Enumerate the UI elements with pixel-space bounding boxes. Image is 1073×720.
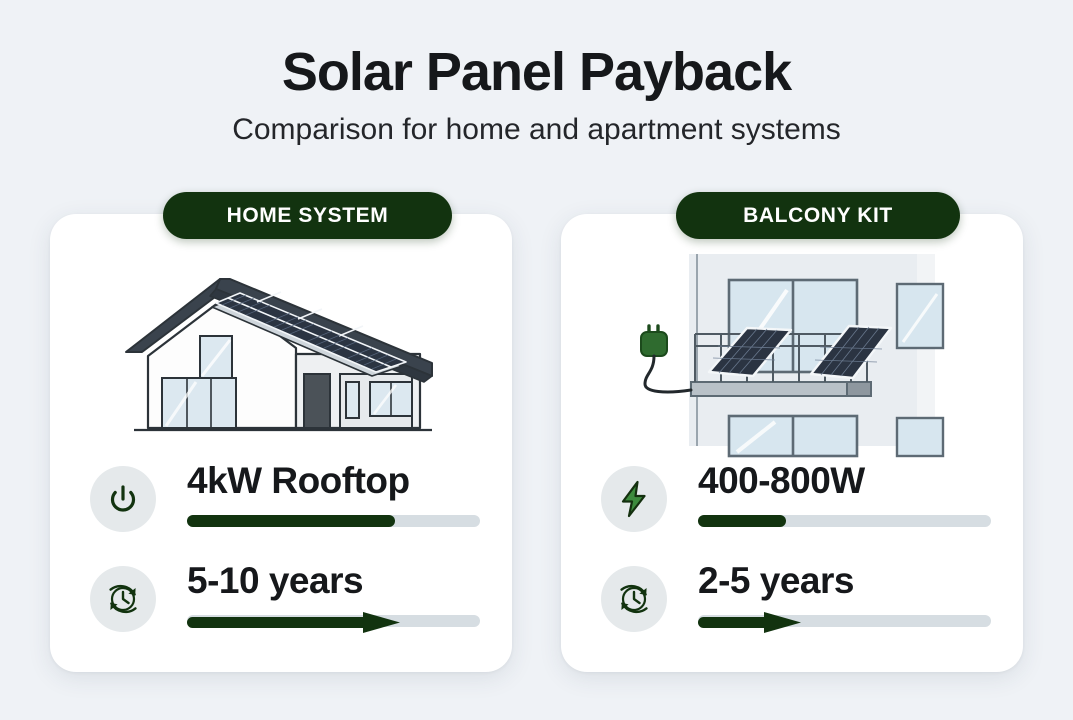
metric-row: 5-10 years [90, 562, 480, 662]
progress-arrow-fill [187, 608, 471, 636]
metrics-home-system: 4kW Rooftop [90, 462, 480, 662]
infographic-page: Solar Panel Payback Comparison for home … [0, 0, 1073, 720]
progress-fill [187, 515, 395, 527]
plug-icon [641, 326, 691, 392]
lightning-bolt-icon [601, 466, 667, 532]
progress-arrow-bar [187, 614, 480, 628]
metric-row: 4kW Rooftop [90, 462, 480, 562]
page-subtitle: Comparison for home and apartment system… [0, 113, 1073, 146]
metric-label: 2-5 years [698, 562, 991, 599]
metric-row: 2-5 years [601, 562, 991, 662]
progress-arrow-bar [698, 614, 991, 628]
house-with-rooftop-solar-illustration [50, 250, 512, 460]
page-title: Solar Panel Payback [0, 44, 1073, 101]
metric-label: 5-10 years [187, 562, 480, 599]
power-icon [90, 466, 156, 532]
metric-label: 400-800W [698, 462, 991, 499]
header: Solar Panel Payback Comparison for home … [0, 44, 1073, 146]
progress-bar [698, 514, 991, 528]
balcony-solar-panels-illustration [561, 250, 1023, 460]
payback-clock-icon [90, 566, 156, 632]
payback-clock-icon [601, 566, 667, 632]
metric-row: 400-800W [601, 462, 991, 562]
metrics-balcony-kit: 400-800W [601, 462, 991, 662]
metric-label: 4kW Rooftop [187, 462, 480, 499]
card-home-system[interactable]: 4kW Rooftop [50, 214, 512, 672]
progress-arrow-fill [698, 608, 982, 636]
badge-home-system: HOME SYSTEM [163, 192, 452, 239]
badge-balcony-kit: BALCONY KIT [676, 192, 960, 239]
progress-fill [698, 515, 786, 527]
card-balcony-kit[interactable]: 400-800W [561, 214, 1023, 672]
progress-bar [187, 514, 480, 528]
